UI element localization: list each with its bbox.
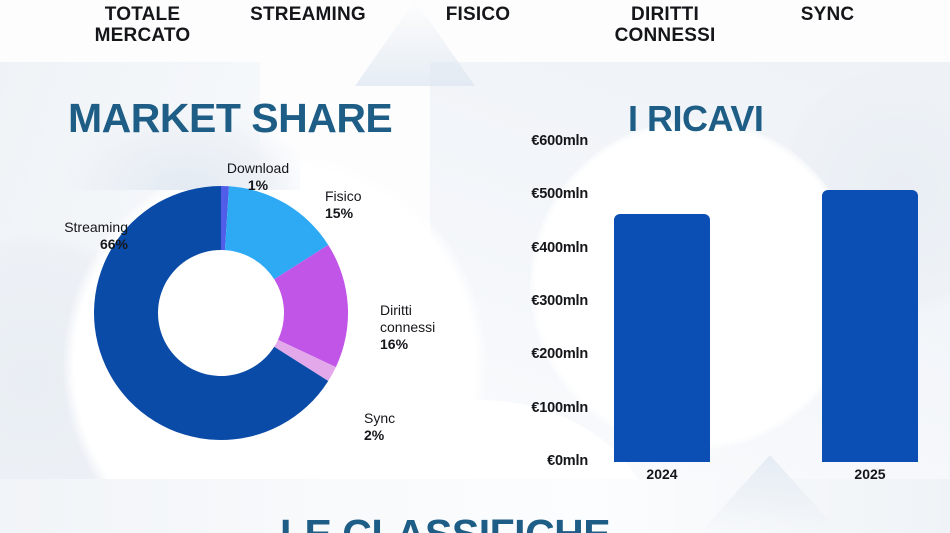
donut-label-fisico-name: Fisico bbox=[325, 188, 415, 205]
y-axis-tick: €600mln bbox=[496, 133, 588, 149]
donut-label-download-name: Download bbox=[203, 160, 313, 177]
donut-label-sync-name: Sync bbox=[364, 410, 434, 427]
infographic-canvas: TOTALE MERCATO STREAMING FISICO DIRITTI … bbox=[0, 0, 950, 533]
donut-label-download-value: 1% bbox=[203, 177, 313, 194]
donut-label-diritti-connessi-value: 16% bbox=[380, 336, 466, 353]
bar-category-label-2025: 2025 bbox=[822, 466, 918, 482]
donut-label-sync-value: 2% bbox=[364, 427, 434, 444]
market-share-title: MARKET SHARE bbox=[68, 96, 392, 140]
donut-label-sync: Sync 2% bbox=[364, 410, 434, 444]
bar-chart-y-axis: €600mln€500mln€400mln€300mln€200mln€100m… bbox=[496, 142, 588, 462]
header-item-fisico: FISICO bbox=[428, 4, 528, 25]
bar-chart-plot-area: 20242025 bbox=[596, 142, 916, 462]
y-axis-tick: €500mln bbox=[496, 186, 588, 202]
y-axis-tick: €100mln bbox=[496, 400, 588, 416]
y-axis-tick: €300mln bbox=[496, 293, 588, 309]
header-item-sync: SYNC bbox=[780, 4, 875, 25]
donut-label-streaming: Streaming 66% bbox=[18, 219, 128, 253]
market-share-donut-chart bbox=[94, 186, 348, 440]
header-item-streaming: STREAMING bbox=[238, 4, 378, 25]
donut-label-download: Download 1% bbox=[203, 160, 313, 194]
ricavi-bar-chart: €600mln€500mln€400mln€300mln€200mln€100m… bbox=[496, 142, 916, 482]
y-axis-tick: €400mln bbox=[496, 240, 588, 256]
header-item-diritti-connessi: DIRITTI CONNESSI bbox=[600, 4, 730, 46]
ricavi-title: I RICAVI bbox=[628, 99, 763, 139]
bar-category-label-2024: 2024 bbox=[614, 466, 710, 482]
donut-svg bbox=[94, 186, 348, 440]
donut-label-diritti-connessi: Diritti connessi 16% bbox=[380, 302, 466, 353]
donut-label-diritti-connessi-name: Diritti connessi bbox=[380, 302, 466, 336]
donut-label-fisico-value: 15% bbox=[325, 205, 415, 222]
bar-2024 bbox=[614, 214, 710, 462]
donut-label-fisico: Fisico 15% bbox=[325, 188, 415, 222]
donut-label-streaming-value: 66% bbox=[18, 236, 128, 253]
bottom-section-title: LE CLASSIFICHE bbox=[280, 512, 610, 533]
donut-label-streaming-name: Streaming bbox=[18, 219, 128, 236]
category-header-strip: TOTALE MERCATO STREAMING FISICO DIRITTI … bbox=[0, 0, 950, 60]
y-axis-tick: €0mln bbox=[496, 453, 588, 469]
bar-2025 bbox=[822, 190, 918, 462]
header-item-totale-mercato: TOTALE MERCATO bbox=[85, 4, 200, 46]
y-axis-tick: €200mln bbox=[496, 346, 588, 362]
